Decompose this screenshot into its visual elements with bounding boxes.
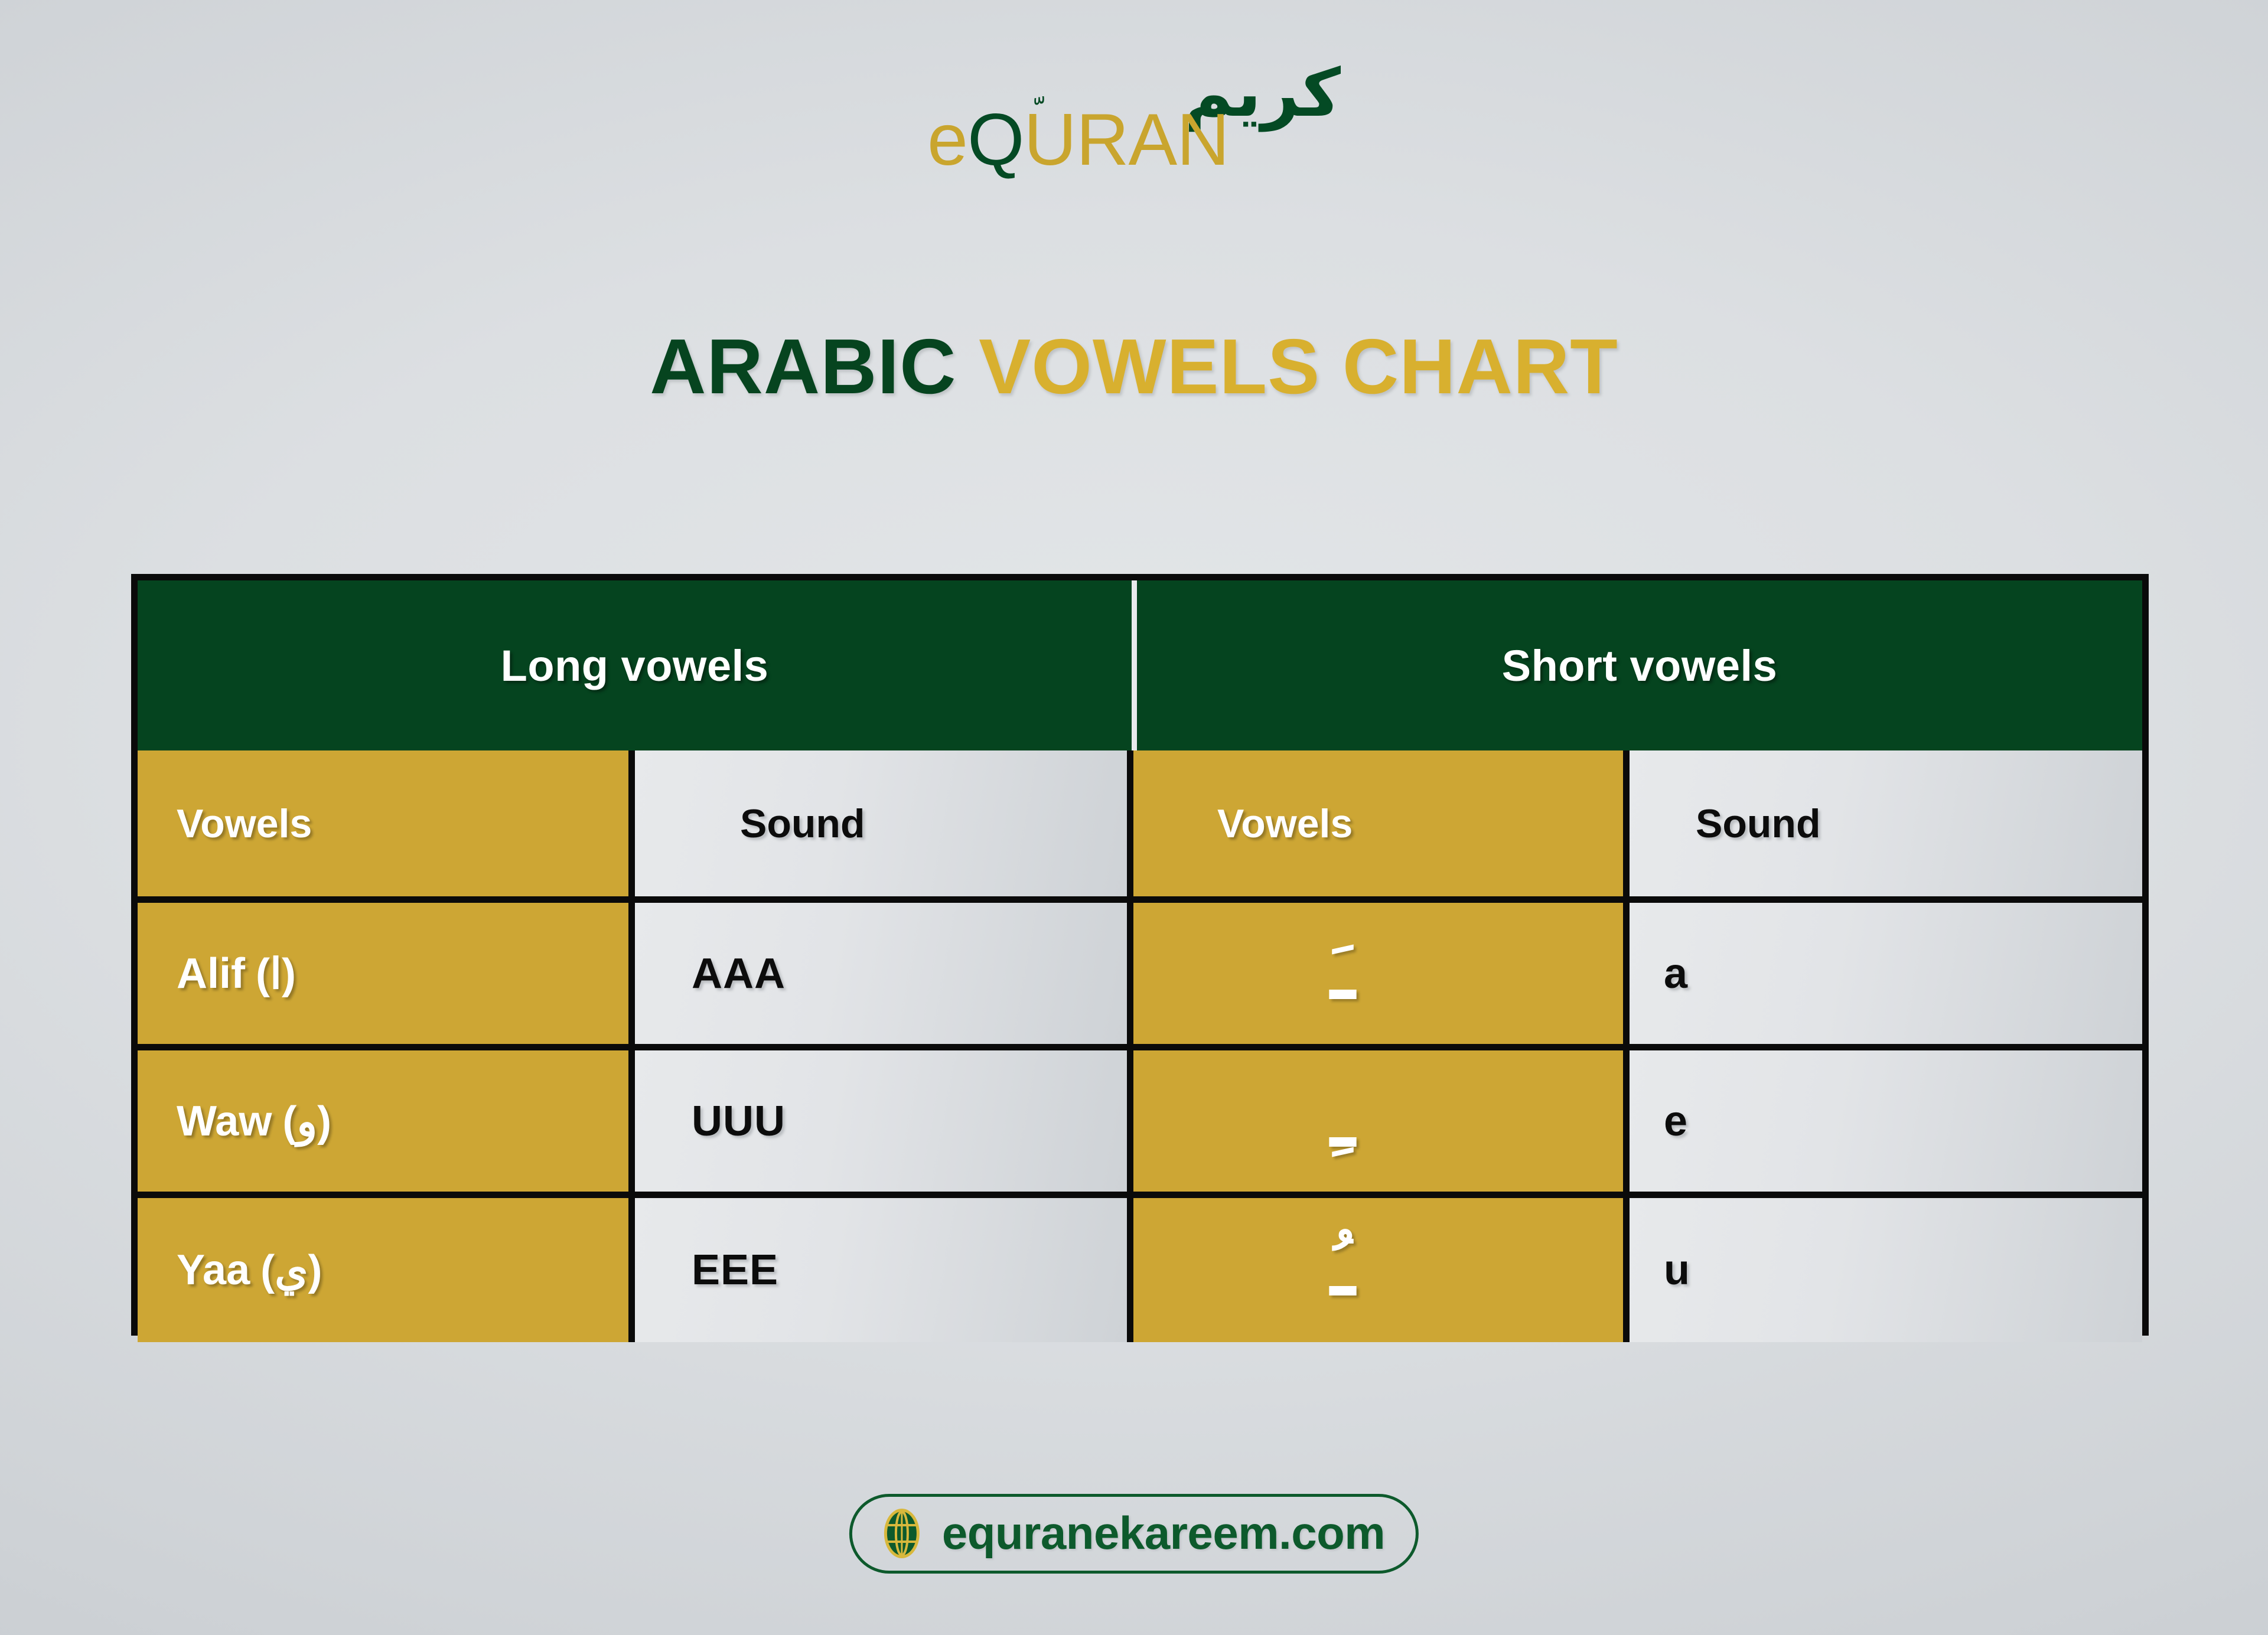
- long-sound-2: UUU: [692, 1097, 786, 1146]
- long-vowel-arabic-1: (ا): [256, 949, 296, 998]
- kasra-mark-icon: ـِ: [1330, 1084, 1356, 1159]
- column-header-long-sound: Sound: [635, 750, 1133, 896]
- cell-long-sound: EEE: [635, 1198, 1133, 1342]
- short-sound-2: e: [1664, 1097, 1688, 1146]
- footer-website-badge[interactable]: equranekareem.com: [849, 1494, 1419, 1574]
- cell-long-vowel-name: Waw (و): [138, 1050, 635, 1192]
- cell-long-vowel-name: Yaa (ي): [138, 1198, 635, 1342]
- footer-url-text[interactable]: equranekareem.com: [942, 1506, 1385, 1560]
- long-vowel-label-2: Waw: [177, 1097, 272, 1146]
- table-row: Alif (ا) AAA ـَ a: [138, 896, 2142, 1044]
- logo-wordmark: eQURAN ّ: [927, 103, 1229, 177]
- cell-short-vowel-mark: ـَ: [1133, 903, 1630, 1044]
- short-sound-1: a: [1664, 949, 1688, 998]
- cell-short-sound: e: [1630, 1050, 2142, 1192]
- column-header-short-vowels: Vowels: [1133, 750, 1630, 896]
- logo-letter-q: Q: [967, 99, 1024, 181]
- logo-letter-e: e: [927, 99, 967, 181]
- globe-icon: [877, 1509, 927, 1558]
- long-sound-1: AAA: [692, 949, 786, 998]
- brand-logo: كريم eQURAN ّ: [0, 65, 2268, 177]
- long-vowel-arabic-2: (و): [282, 1096, 331, 1146]
- group-header-short-vowels: Short vowels: [1137, 580, 2142, 750]
- page-title-part-green: ARABIC: [650, 323, 956, 410]
- column-header-long-vowels: Vowels: [138, 750, 635, 896]
- cell-short-sound: a: [1630, 903, 2142, 1044]
- cell-short-vowel-mark: ـِ: [1133, 1050, 1630, 1192]
- group-header-long-vowels: Long vowels: [138, 580, 1137, 750]
- brand-logo-inner: كريم eQURAN ّ: [921, 65, 1347, 177]
- cell-long-vowel-name: Alif (ا): [138, 903, 635, 1044]
- page-title: ARABIC VOWELS CHART: [0, 328, 2268, 406]
- table-column-header-row: Vowels Sound Vowels Sound: [138, 750, 2142, 896]
- column-header-short-sound: Sound: [1630, 750, 2142, 896]
- cell-short-sound: u: [1630, 1198, 2142, 1342]
- long-vowel-arabic-3: (ي): [260, 1245, 322, 1295]
- long-sound-3: EEE: [692, 1246, 778, 1294]
- long-vowel-label-3: Yaa: [177, 1246, 250, 1294]
- long-vowel-label-1: Alif: [177, 949, 245, 998]
- table-row: Yaa (ي) EEE ـُ u: [138, 1192, 2142, 1342]
- cell-short-vowel-mark: ـُ: [1133, 1198, 1630, 1342]
- cell-long-sound: AAA: [635, 903, 1133, 1044]
- page-title-part-gold: VOWELS CHART: [979, 323, 1618, 410]
- damma-mark-icon: ـُ: [1330, 1232, 1356, 1308]
- vowels-table: Long vowels Short vowels Vowels Sound Vo…: [131, 574, 2149, 1336]
- short-sound-3: u: [1664, 1246, 1690, 1294]
- cell-long-sound: UUU: [635, 1050, 1133, 1192]
- fatha-mark-icon: ـَ: [1330, 936, 1356, 1011]
- table-group-header-row: Long vowels Short vowels: [138, 580, 2142, 750]
- table-row: Waw (و) UUU ـِ e: [138, 1044, 2142, 1192]
- logo-shadda-icon: ّ: [1031, 105, 1068, 126]
